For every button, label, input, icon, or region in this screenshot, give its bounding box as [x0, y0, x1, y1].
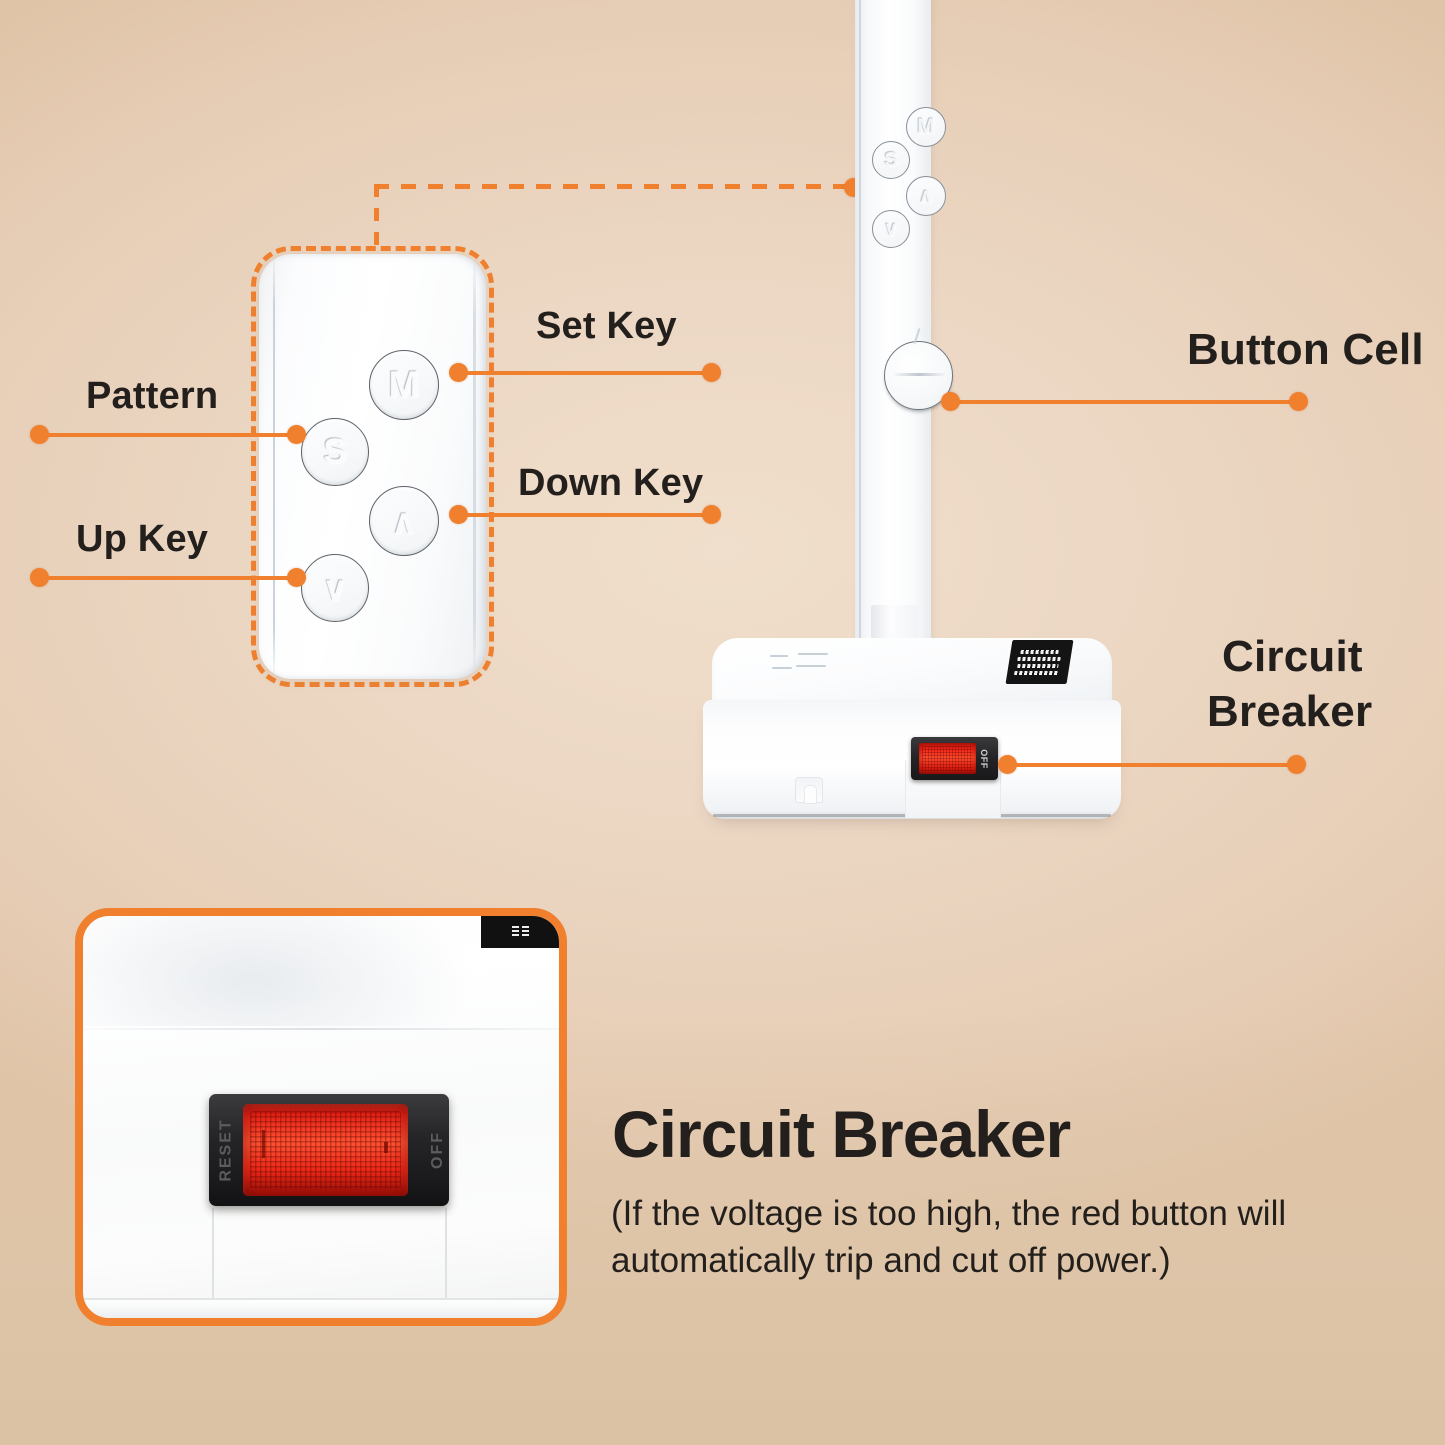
closeup-circuit-breaker-switch[interactable]: RESET OFF: [209, 1094, 449, 1206]
pattern-leader-line: [39, 433, 296, 437]
remote-control: M S ∧ ∨: [259, 254, 486, 679]
breaker-off-label: OFF: [978, 749, 988, 769]
label-set-key: Set Key: [536, 305, 677, 348]
photo-spec-plate-corner: [481, 916, 559, 948]
circuit-breaker-description: (If the voltage is too high, the red but…: [611, 1190, 1381, 1285]
rocker-nub-right: [384, 1142, 388, 1153]
photo-bottom-edge: [83, 1298, 559, 1318]
lamp-power-port: [795, 777, 823, 803]
remote-up-key[interactable]: ∨: [301, 554, 369, 622]
up-key-dot-source: [287, 568, 306, 587]
remote-pattern-key[interactable]: S: [301, 418, 369, 486]
circuit-breaker-leader-line: [1007, 763, 1295, 767]
circuit-breaker-closeup-photo: RESET OFF: [75, 908, 567, 1326]
rocker-nub-left: [262, 1130, 265, 1158]
remote-down-key[interactable]: ∧: [369, 486, 439, 556]
closeup-reset-label: RESET: [218, 1118, 236, 1181]
button-cell-leader-line: [950, 400, 1298, 404]
label-pattern: Pattern: [86, 375, 218, 418]
label-circuit-breaker-line2: Breaker: [1207, 687, 1372, 736]
lamp-pole: [855, 0, 931, 640]
pole-pattern-key[interactable]: S: [872, 141, 910, 179]
circuit-breaker-dot-end: [1287, 755, 1306, 774]
photo-highlight-sheen: [75, 908, 483, 1026]
closeup-red-rocker[interactable]: [243, 1104, 408, 1196]
pole-set-key[interactable]: M: [906, 107, 946, 147]
photo-housing-seam: [83, 1028, 559, 1030]
label-up-key: Up Key: [76, 518, 208, 561]
button-cell-dot-end: [1289, 392, 1308, 411]
pole-down-key[interactable]: ∧: [906, 176, 946, 216]
lamp-circuit-breaker-switch[interactable]: OFF: [911, 737, 998, 780]
circuit-breaker-heading: Circuit Breaker: [612, 1098, 1070, 1172]
pole-up-key[interactable]: ∨: [872, 210, 910, 248]
remote-link-vertical-dashes: [374, 184, 379, 250]
remote-link-horizontal-dashes: [374, 184, 852, 189]
down-key-dot-end: [702, 505, 721, 524]
lamp-spec-label-plate: [1006, 640, 1074, 684]
up-key-leader-line: [39, 576, 296, 580]
label-button-cell: Button Cell: [1187, 325, 1424, 374]
lamp-hinge: [871, 605, 919, 641]
set-key-dot-end: [702, 363, 721, 382]
lamp-base-vents: [770, 653, 832, 675]
label-down-key: Down Key: [518, 462, 703, 505]
label-circuit-breaker-line1: Circuit: [1222, 632, 1363, 681]
set-key-leader-line: [456, 371, 710, 375]
remote-set-key[interactable]: M: [369, 350, 439, 420]
down-key-leader-line: [456, 513, 710, 517]
breaker-red-rocker[interactable]: [919, 743, 976, 774]
button-cell-slot: [894, 373, 945, 376]
closeup-off-label: OFF: [429, 1131, 447, 1169]
pattern-dot-source: [287, 425, 306, 444]
